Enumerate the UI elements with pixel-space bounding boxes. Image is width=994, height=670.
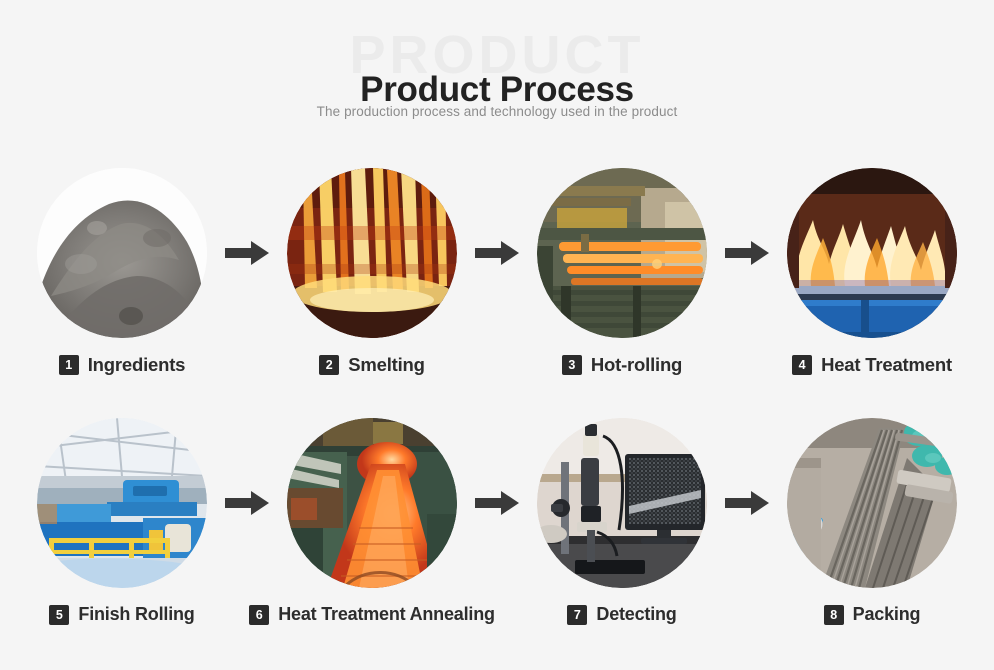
step-label-1: 1 Ingredients <box>59 354 186 376</box>
microscope-inspection-monitor-photo <box>537 418 707 588</box>
process-row-1: 1 Ingredients <box>0 168 994 383</box>
process-row-2: 5 Finish Rolling <box>0 418 994 633</box>
arrow-right-icon <box>217 418 277 588</box>
step-name-7: Detecting <box>596 604 676 625</box>
arrow-right-icon <box>467 418 527 588</box>
grey-metal-powder-pile-photo <box>37 168 207 338</box>
step-badge-7: 7 <box>567 605 587 625</box>
step-badge-5: 5 <box>49 605 69 625</box>
factory-floor-blue-machinery-photo <box>37 418 207 588</box>
step-badge-3: 3 <box>562 355 582 375</box>
process-step-8[interactable]: 8 Packing <box>777 418 967 625</box>
step-name-5: Finish Rolling <box>78 604 194 625</box>
step-name-4: Heat Treatment <box>821 354 952 376</box>
process-step-6[interactable]: 6 Heat Treatment Annealing <box>277 418 467 625</box>
annealing-furnace-orange-tunnel-photo <box>287 418 457 588</box>
step-name-1: Ingredients <box>88 354 186 376</box>
arrow-right-icon <box>717 418 777 588</box>
step-label-8: 8 Packing <box>824 604 921 625</box>
arrow-right-icon <box>467 168 527 338</box>
step-name-6: Heat Treatment Annealing <box>278 604 495 625</box>
step-label-4: 4 Heat Treatment <box>792 354 952 376</box>
arrow-right-icon <box>717 168 777 338</box>
step-label-5: 5 Finish Rolling <box>49 604 194 625</box>
step-name-3: Hot-rolling <box>591 354 682 376</box>
process-step-3[interactable]: 3 Hot-rolling <box>527 168 717 376</box>
step-badge-6: 6 <box>249 605 269 625</box>
step-name-2: Smelting <box>348 354 425 376</box>
hot-rolling-mill-glowing-billets-photo <box>537 168 707 338</box>
process-step-4[interactable]: 4 Heat Treatment <box>777 168 967 376</box>
arrow-right-icon <box>217 168 277 338</box>
page-header: PRODUCT Product Process The production p… <box>0 0 994 150</box>
process-step-1[interactable]: 1 Ingredients <box>27 168 217 376</box>
step-label-7: 7 Detecting <box>567 604 676 625</box>
step-label-3: 3 Hot-rolling <box>562 354 682 376</box>
step-badge-8: 8 <box>824 605 844 625</box>
process-step-5[interactable]: 5 Finish Rolling <box>27 418 217 625</box>
process-step-7[interactable]: 7 Detecting <box>527 418 717 625</box>
step-badge-1: 1 <box>59 355 79 375</box>
furnace-flames-blue-machine-photo <box>787 168 957 338</box>
step-label-2: 2 Smelting <box>319 354 425 376</box>
step-badge-4: 4 <box>792 355 812 375</box>
step-label-6: 6 Heat Treatment Annealing <box>249 604 495 625</box>
step-badge-2: 2 <box>319 355 339 375</box>
molten-metal-pouring-photo <box>287 168 457 338</box>
steel-bar-bundles-packing-photo <box>787 418 957 588</box>
page-subtitle: The production process and technology us… <box>0 104 994 119</box>
step-name-8: Packing <box>853 604 921 625</box>
process-step-2[interactable]: 2 Smelting <box>277 168 467 376</box>
